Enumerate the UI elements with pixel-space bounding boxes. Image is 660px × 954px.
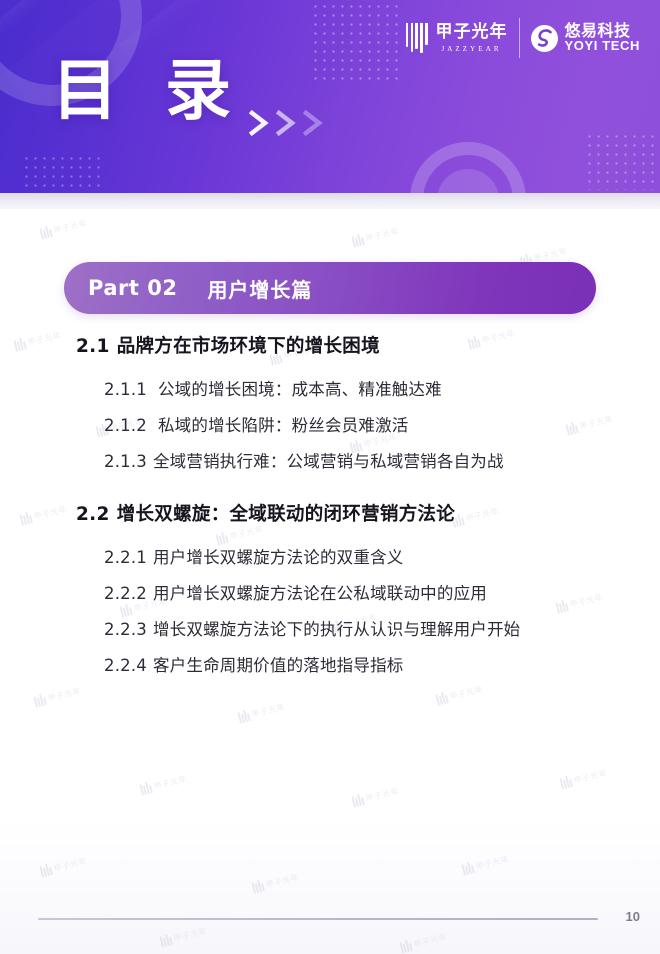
toc-item-number: 2.2.2 [104, 584, 147, 603]
page-title: 目 录 [52, 58, 243, 124]
toc-item-number: 2.1.1 [104, 380, 147, 399]
toc-item-number: 2.1.3 [104, 452, 147, 471]
watermark-bars-icon [351, 793, 364, 807]
chevrons-right-icon [248, 108, 328, 138]
toc-item-title: 全域营销执行难：公域营销与私域营销各自为战 [153, 452, 504, 471]
toc-item[interactable]: 2.1.1公域的增长困境：成本高、精准触达难 [0, 372, 660, 408]
logo-row: 甲子光年 JAZZYEAR 悠易科技 YOYI TECH [406, 18, 640, 58]
presentation-slide: 甲子光年 甲子光年 甲子光年 甲子光年 甲子光年 甲子光年 甲子光年 甲子光年 … [0, 0, 660, 954]
jazzyear-name-en: JAZZYEAR [441, 45, 501, 53]
toc-section-title: 增长双螺旋：全域联动的闭环营销方法论 [117, 504, 455, 525]
toc-item-title: 增长双螺旋方法论下的执行从认识与理解用户开始 [153, 620, 520, 639]
toc-item-title: 公域的增长困境：成本高、精准触达难 [158, 380, 442, 399]
watermark-bars-icon [33, 693, 46, 707]
toc-section-heading[interactable]: 2.1品牌方在市场环境下的增长困境 [0, 330, 660, 364]
toc-item-number: 2.2.1 [104, 548, 147, 567]
table-of-contents: 2.1品牌方在市场环境下的增长困境 2.1.1公域的增长困境：成本高、精准触达难… [0, 330, 660, 684]
decorative-dot-grid [311, 2, 403, 84]
watermark-text: 甲子光年 [52, 217, 88, 236]
footer-divider [38, 918, 598, 920]
jazzyear-name-cn: 甲子光年 [436, 23, 508, 43]
watermark-bars-icon [435, 691, 448, 705]
toc-item-number: 2.1.2 [104, 416, 147, 435]
header-underline-band [0, 193, 660, 209]
watermark-text: 甲子光年 [448, 683, 484, 702]
watermark-bars-icon [461, 861, 474, 875]
toc-item[interactable]: 2.2.4客户生命周期价值的落地指导指标 [0, 648, 660, 684]
watermark-text: 甲子光年 [52, 855, 88, 874]
watermark-text: 甲子光年 [152, 773, 188, 792]
part-number-label: Part 02 [88, 276, 177, 300]
toc-item-title: 客户生命周期价值的落地指导指标 [153, 656, 404, 675]
toc-item[interactable]: 2.2.1用户增长双螺旋方法论的双重含义 [0, 540, 660, 576]
slide-header: 目 录 甲子光年 JAZZYEAR [0, 0, 660, 193]
page-number: 10 [626, 909, 640, 924]
toc-section-title: 品牌方在市场环境下的增长困境 [117, 336, 380, 357]
part-title: 用户增长篇 [207, 274, 312, 303]
watermark-text: 甲子光年 [474, 853, 510, 872]
watermark-bars-icon [559, 775, 572, 789]
watermark-bars-icon [139, 781, 152, 795]
toc-section-number: 2.1 [76, 336, 110, 357]
watermark-bars-icon [39, 225, 52, 239]
logo-yoyi: 悠易科技 YOYI TECH [531, 22, 640, 55]
toc-item[interactable]: 2.1.2私域的增长陷阱：粉丝会员难激活 [0, 408, 660, 444]
decorative-dot-grid [22, 154, 100, 192]
watermark-text: 甲子光年 [532, 245, 568, 264]
logo-divider [519, 18, 520, 58]
toc-item-title: 用户增长双螺旋方法论的双重含义 [153, 548, 404, 567]
toc-section-number: 2.2 [76, 504, 110, 525]
decorative-dot-grid [585, 132, 660, 190]
watermark-text: 甲子光年 [250, 701, 286, 720]
yoyi-name-cn: 悠易科技 [565, 22, 640, 40]
toc-item[interactable]: 2.2.3增长双螺旋方法论下的执行从认识与理解用户开始 [0, 612, 660, 648]
toc-item-number: 2.2.4 [104, 656, 147, 675]
part-banner: Part 02 用户增长篇 [64, 262, 596, 314]
toc-item-number: 2.2.3 [104, 620, 147, 639]
watermark-bars-icon [39, 863, 52, 877]
watermark-text: 甲子光年 [364, 785, 400, 804]
toc-item-title: 私域的增长陷阱：粉丝会员难激活 [158, 416, 409, 435]
toc-item[interactable]: 2.2.2用户增长双螺旋方法论在公私域联动中的应用 [0, 576, 660, 612]
logo-jazzyear: 甲子光年 JAZZYEAR [406, 23, 508, 53]
toc-section-heading[interactable]: 2.2增长双螺旋：全域联动的闭环营销方法论 [0, 498, 660, 532]
jazzyear-bars-icon [406, 23, 428, 53]
watermark-bars-icon [351, 233, 364, 247]
yoyi-swirl-icon [531, 25, 558, 52]
watermark-text: 甲子光年 [46, 685, 82, 704]
toc-item-title: 用户增长双螺旋方法论在公私域联动中的应用 [153, 584, 487, 603]
yoyi-name-en: YOYI TECH [565, 39, 640, 54]
toc-item[interactable]: 2.1.3全域营销执行难：公域营销与私域营销各自为战 [0, 444, 660, 480]
watermark-text: 甲子光年 [572, 767, 608, 786]
watermark-bars-icon [237, 709, 250, 723]
watermark-text: 甲子光年 [364, 225, 400, 244]
slide-footer: 10 [0, 884, 660, 954]
